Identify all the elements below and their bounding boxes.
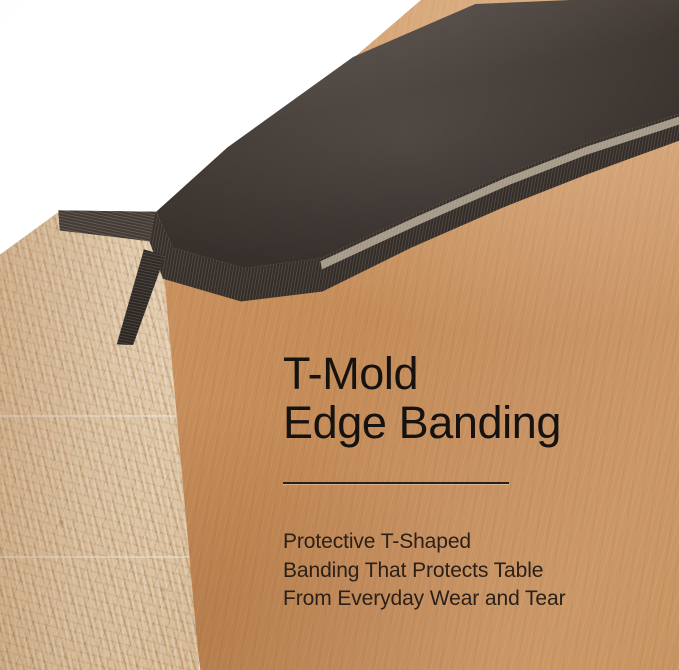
- title-divider: [283, 482, 509, 484]
- product-subtitle: Protective T-Shaped Banding That Protect…: [283, 528, 653, 614]
- product-subtitle-line-3: From Everyday Wear and Tear: [283, 585, 653, 614]
- product-subtitle-line-1: Protective T-Shaped: [283, 528, 653, 557]
- product-feature-image: T-Mold Edge Banding Protective T-Shaped …: [0, 0, 679, 670]
- product-subtitle-line-2: Banding That Protects Table: [283, 557, 653, 586]
- product-title-line-2: Edge Banding: [283, 398, 643, 447]
- product-title-line-1: T-Mold: [283, 349, 643, 398]
- product-title: T-Mold Edge Banding: [283, 349, 643, 447]
